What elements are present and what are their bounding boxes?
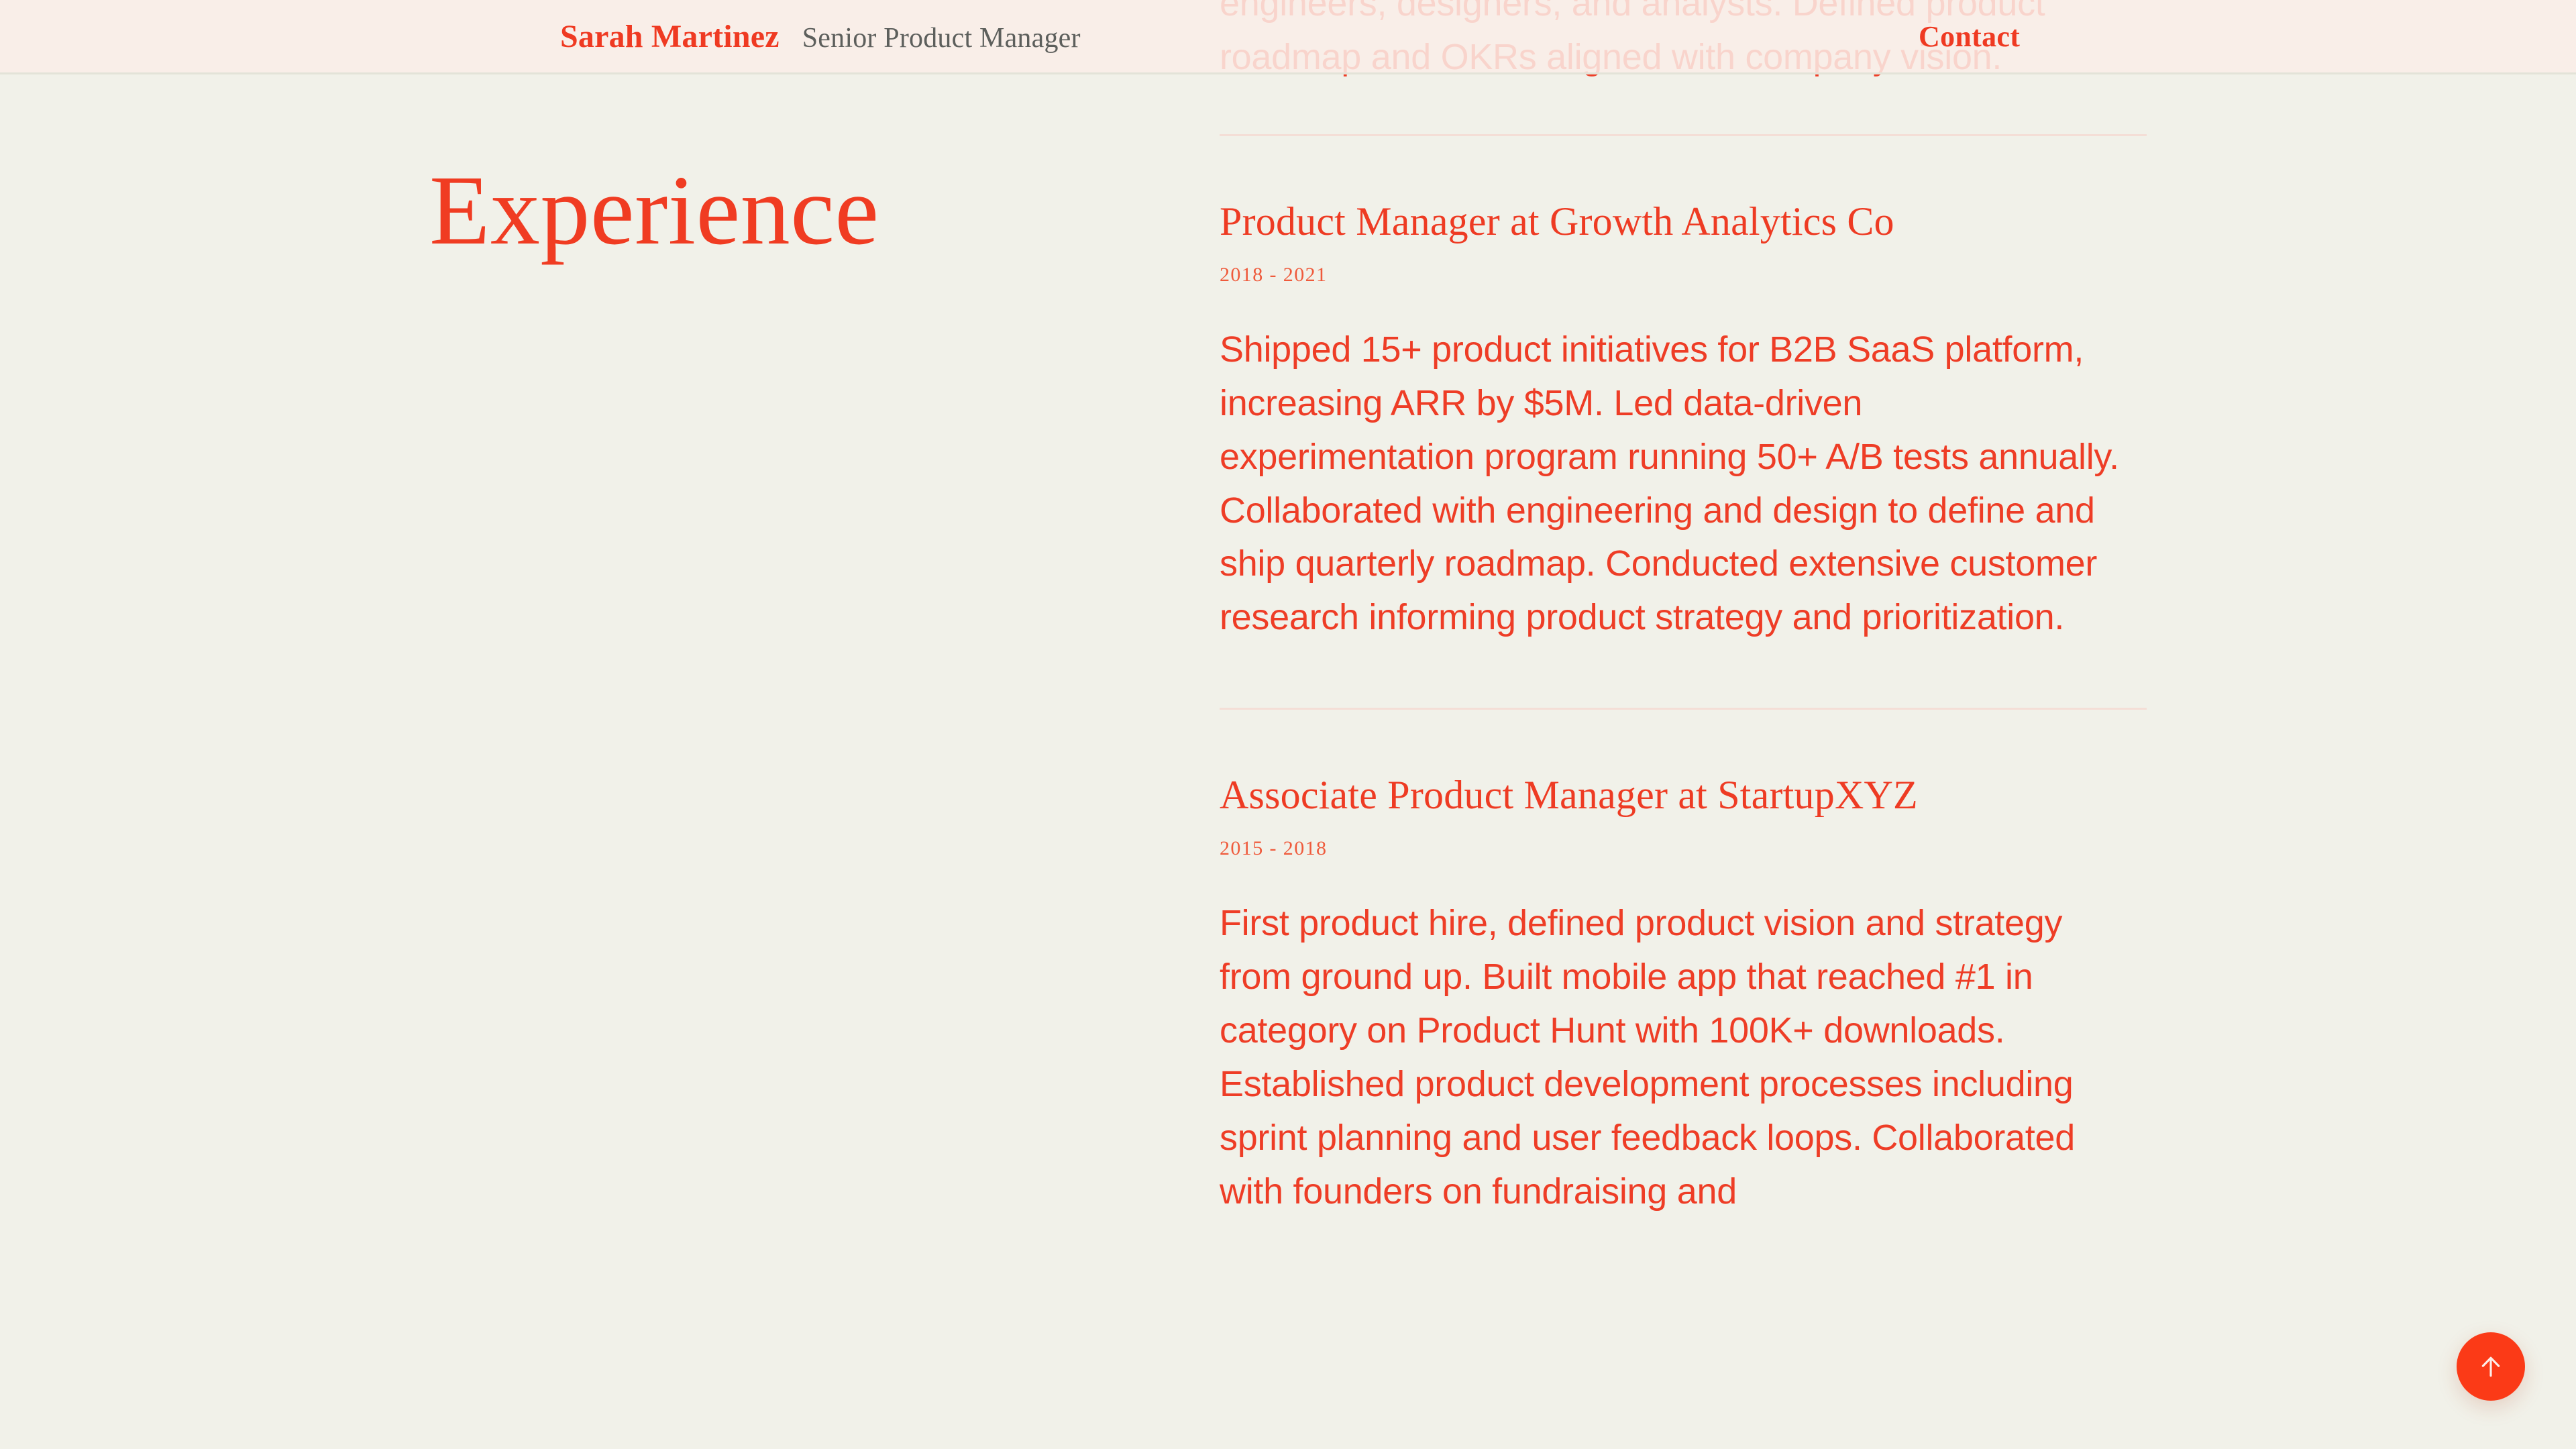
entry-body: Shipped 15+ product initiatives for B2B … — [1220, 323, 2127, 645]
nav-link-contact[interactable]: Contact — [1919, 19, 2020, 54]
entry-dates: 2018 - 2021 — [1220, 263, 2147, 287]
entry-title: Associate Product Manager at StartupXYZ — [1220, 771, 2147, 819]
scroll-to-top-button[interactable] — [2457, 1332, 2525, 1401]
entry-body: First product hire, defined product visi… — [1220, 897, 2127, 1218]
entry-dates: 2015 - 2018 — [1220, 837, 2147, 861]
entry-title: Product Manager at Growth Analytics Co — [1220, 198, 2147, 246]
brand[interactable]: Sarah Martinez Senior Product Manager — [560, 18, 1081, 55]
site-header: Sarah Martinez Senior Product Manager Co… — [0, 0, 2576, 74]
list-item: Product Manager at Growth Analytics Co 2… — [1220, 198, 2147, 645]
experience-entry-list: Product Manager at Growth Analytics Co 2… — [1220, 0, 2147, 1218]
brand-name[interactable]: Sarah Martinez — [560, 18, 780, 55]
list-item: Associate Product Manager at StartupXYZ … — [1220, 771, 2147, 1218]
arrow-up-icon — [2476, 1352, 2506, 1381]
entry-divider — [1220, 708, 2147, 710]
primary-nav: Contact — [1919, 19, 2576, 54]
page-title: Experience — [429, 161, 879, 260]
brand-role: Senior Product Manager — [802, 22, 1081, 54]
entry-divider — [1220, 134, 2147, 136]
